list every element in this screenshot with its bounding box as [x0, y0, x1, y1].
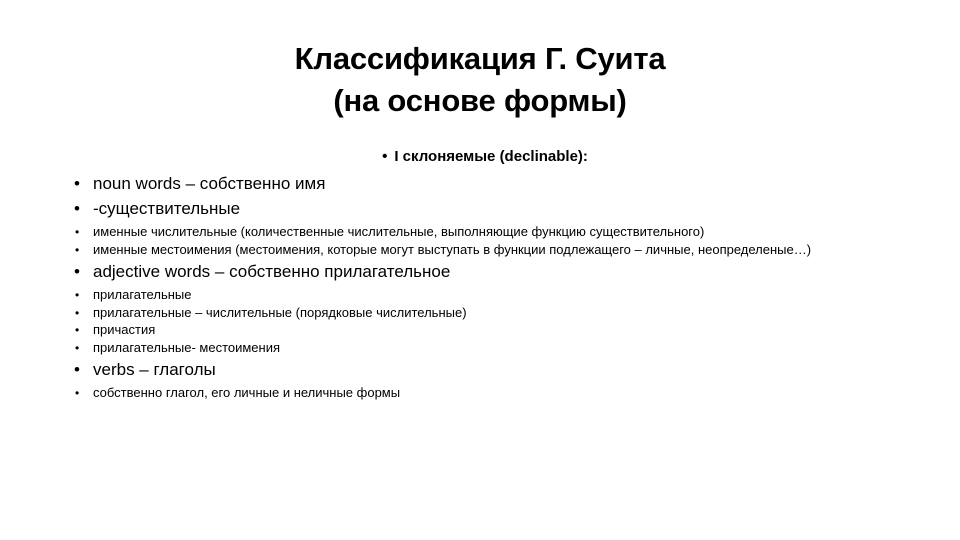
sub-list-item: • прилагательные – числительные (порядко…: [93, 305, 960, 322]
page-title: Классификация Г. Суита (на основе формы): [0, 38, 960, 122]
list-item-nouns: • -существительные • именные числительны…: [0, 196, 960, 258]
sub-list-item-label: прилагательные: [93, 287, 960, 304]
bullet-icon: •: [75, 242, 79, 259]
sub-list-item: • причастия: [93, 322, 960, 339]
bullet-icon: •: [74, 357, 80, 382]
bullet-icon: •: [382, 148, 387, 165]
bullet-icon: •: [74, 259, 80, 284]
outline-list: • noun words – собственно имя • -существ…: [0, 171, 960, 402]
bullet-icon: •: [75, 305, 79, 322]
sub-list-item-label: именные местоимения (местоимения, которы…: [93, 242, 960, 259]
bullet-icon: •: [75, 322, 79, 339]
sub-list-item: • собственно глагол, его личные и неличн…: [93, 385, 960, 402]
bullet-icon: •: [75, 340, 79, 357]
list-item-verbs: • verbs – глаголы • собственно глагол, е…: [0, 357, 960, 402]
list-item-label: noun words – собственно имя: [93, 174, 325, 193]
title-line-1: Классификация Г. Суита: [0, 38, 960, 80]
sub-list-item-label: прилагательные- местоимения: [93, 340, 960, 357]
list-item-label: -существительные: [93, 199, 240, 218]
heading-bullet: •I склоняемые (declinable):: [0, 146, 960, 167]
list-item-label: verbs – глаголы: [93, 360, 216, 379]
slide: Классификация Г. Суита (на основе формы)…: [0, 0, 960, 540]
slide-body: •I склоняемые (declinable): • noun words…: [0, 146, 960, 403]
bullet-icon: •: [74, 196, 80, 221]
heading-bullet-label: I склоняемые (declinable):: [394, 148, 588, 165]
list-item-noun-words: • noun words – собственно имя: [0, 171, 960, 196]
bullet-icon: •: [75, 385, 79, 402]
sub-list-item-label: именные числительные (количественные чис…: [93, 224, 960, 241]
sub-list-item-label: причастия: [93, 322, 960, 339]
sub-list-item: • прилагательные: [93, 287, 960, 304]
sub-list-item: • именные местоимения (местоимения, кото…: [93, 242, 960, 259]
list-item-label: adjective words – собственно прилагатель…: [93, 262, 450, 281]
sub-list-item: • именные числительные (количественные ч…: [93, 224, 960, 241]
sub-list-verbs: • собственно глагол, его личные и неличн…: [93, 385, 960, 402]
bullet-icon: •: [75, 224, 79, 241]
sub-list-item: • прилагательные- местоимения: [93, 340, 960, 357]
sub-list-item-label: собственно глагол, его личные и неличные…: [93, 385, 960, 402]
title-line-2: (на основе формы): [0, 80, 960, 122]
sub-list-adjectives: • прилагательные • прилагательные – числ…: [93, 287, 960, 356]
list-item-adjective-words: • adjective words – собственно прилагате…: [0, 259, 960, 356]
bullet-icon: •: [74, 171, 80, 196]
bullet-icon: •: [75, 287, 79, 304]
sub-list-nouns: • именные числительные (количественные ч…: [93, 224, 960, 258]
sub-list-item-label: прилагательные – числительные (порядковы…: [93, 305, 960, 322]
